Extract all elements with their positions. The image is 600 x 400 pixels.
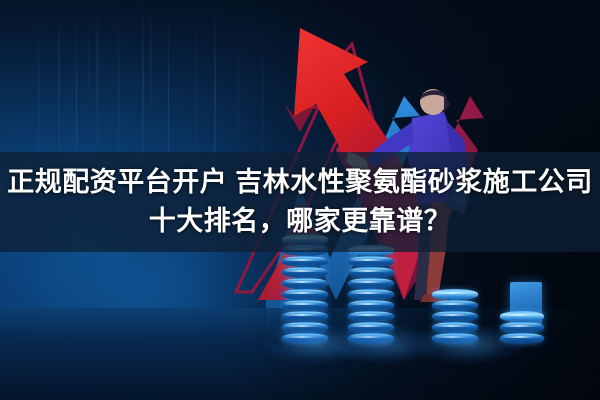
coin-glow	[414, 324, 524, 364]
title-line-2: 十大排名，哪家更靠谱？	[149, 203, 452, 240]
title-block: 正规配资平台开户 吉林水性聚氨酯砂浆施工公司 十大排名，哪家更靠谱？	[0, 152, 600, 252]
promo-banner: 正规配资平台开户 吉林水性聚氨酯砂浆施工公司 十大排名，哪家更靠谱？	[0, 0, 600, 400]
title-line-1: 正规配资平台开户 吉林水性聚氨酯砂浆施工公司	[7, 164, 593, 201]
